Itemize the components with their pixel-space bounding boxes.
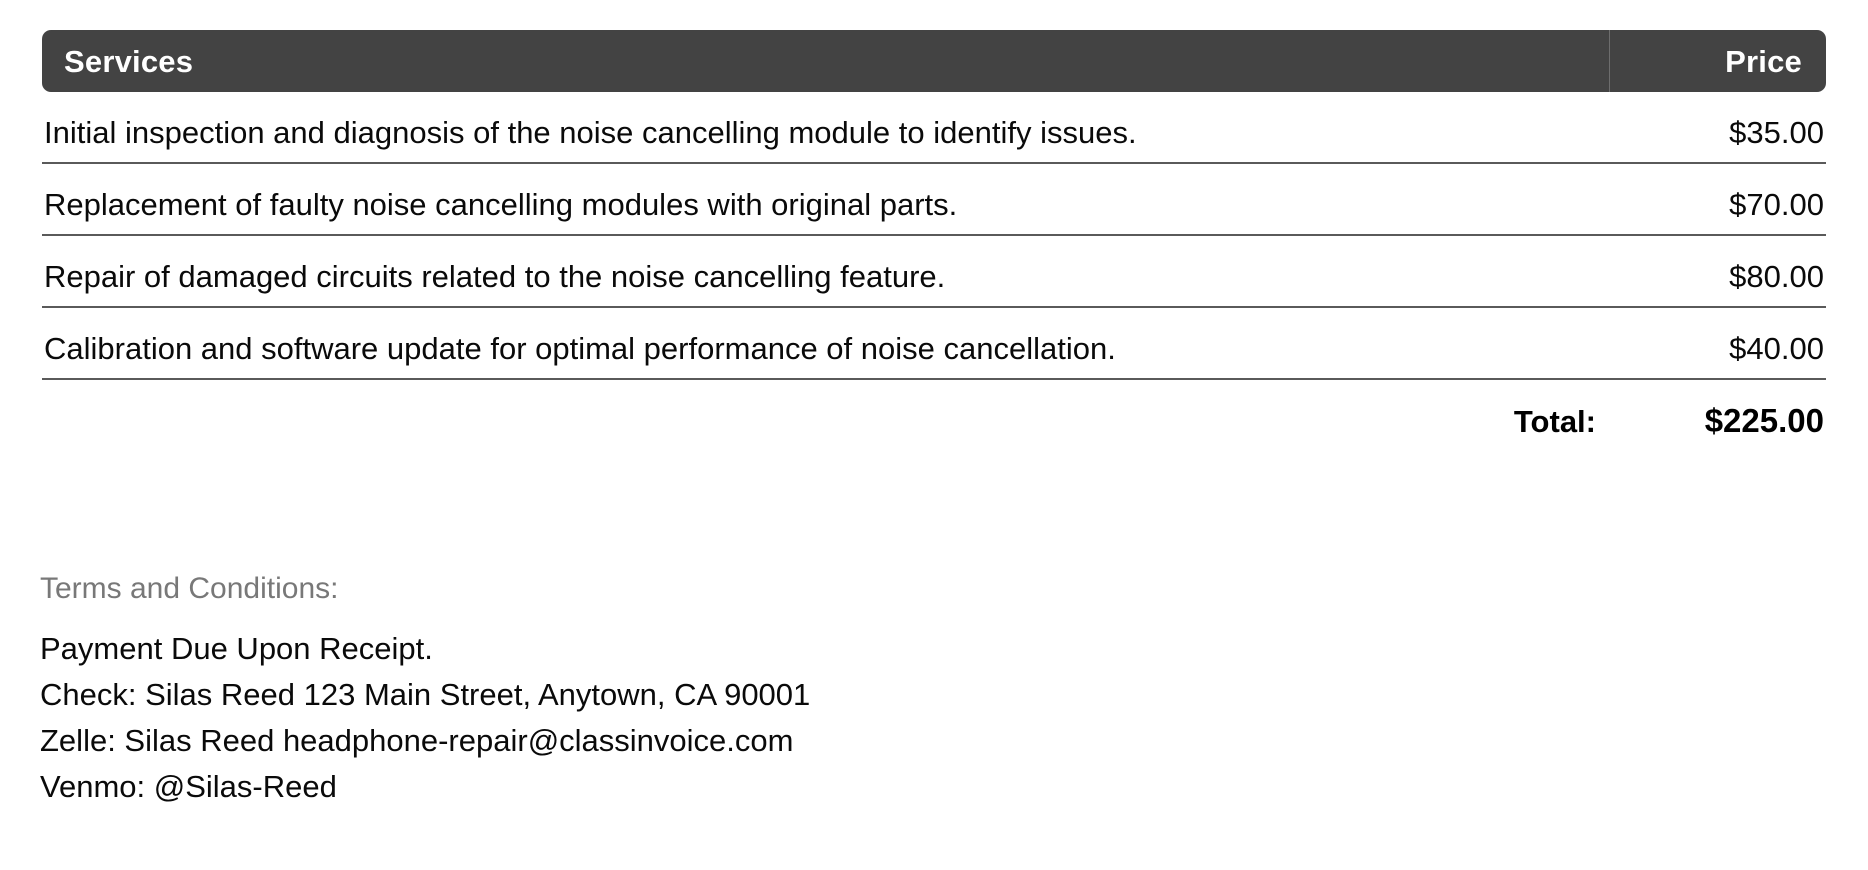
terms-and-conditions: Terms and Conditions: Payment Due Upon R… <box>40 574 1440 810</box>
service-price: $35.00 <box>1608 92 1826 150</box>
terms-line-payment-due: Payment Due Upon Receipt. <box>40 626 1440 672</box>
service-description: Repair of damaged circuits related to th… <box>42 236 1608 294</box>
service-price: $70.00 <box>1608 164 1826 222</box>
service-description: Calibration and software update for opti… <box>42 308 1608 366</box>
terms-line-check: Check: Silas Reed 123 Main Street, Anyto… <box>40 672 1440 718</box>
terms-line-zelle: Zelle: Silas Reed headphone-repair@class… <box>40 718 1440 764</box>
column-header-price: Price <box>1610 46 1826 77</box>
column-header-services: Services <box>42 46 1609 77</box>
table-row: Initial inspection and diagnosis of the … <box>42 92 1826 164</box>
table-row: Repair of damaged circuits related to th… <box>42 236 1826 308</box>
invoice-page: Services Price Initial inspection and di… <box>0 0 1868 870</box>
service-price: $80.00 <box>1608 236 1826 294</box>
services-table: Services Price Initial inspection and di… <box>42 30 1826 442</box>
table-row: Replacement of faulty noise cancelling m… <box>42 164 1826 236</box>
table-row: Calibration and software update for opti… <box>42 308 1826 380</box>
service-description: Initial inspection and diagnosis of the … <box>42 92 1608 150</box>
total-label: Total: <box>1514 404 1674 440</box>
total-amount: $225.00 <box>1674 402 1826 440</box>
total-row: Total: $225.00 <box>42 380 1826 442</box>
table-header-row: Services Price <box>42 30 1826 92</box>
service-price: $40.00 <box>1608 308 1826 366</box>
service-description: Replacement of faulty noise cancelling m… <box>42 164 1608 222</box>
terms-line-venmo: Venmo: @Silas-Reed <box>40 764 1440 810</box>
terms-title: Terms and Conditions: <box>40 574 1440 604</box>
